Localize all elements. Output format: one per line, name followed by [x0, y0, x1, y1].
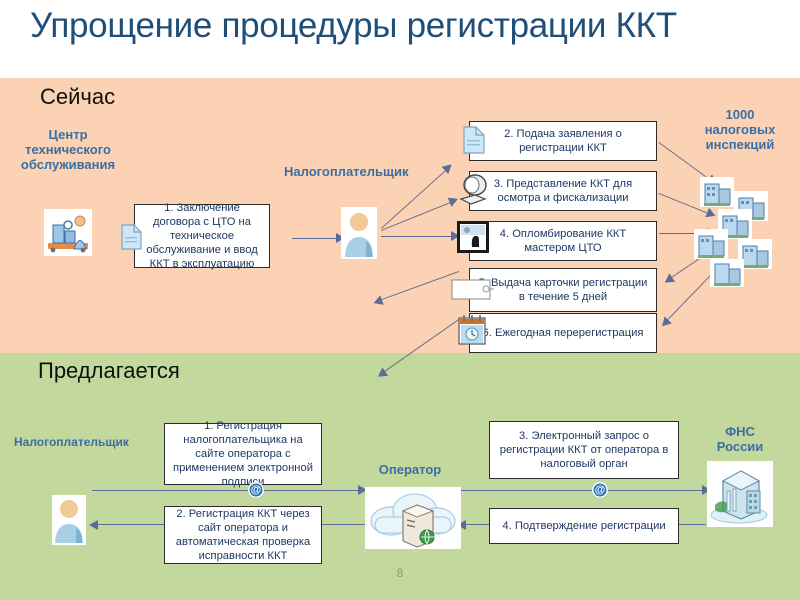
at-icon-operator-fns: @ [592, 482, 608, 498]
label-fns: ФНС России [700, 424, 780, 454]
government-building-icon [707, 461, 773, 527]
person-icon-proposed [52, 495, 86, 545]
section-caption-proposed: Предлагается [38, 358, 158, 384]
label-taxpayer-proposed: Налогоплательщик [14, 435, 120, 449]
buildings-cluster-icon [694, 177, 794, 287]
person-icon-current [341, 207, 377, 259]
monitor-icon-step3 [457, 172, 491, 208]
card-tag-icon-step5 [450, 277, 496, 303]
arrow-box1-to-taxpayer [292, 233, 346, 243]
step-box-3[interactable]: 3. Представление ККТ для осмотра и фиска… [469, 171, 657, 211]
step-box-2[interactable]: 2. Подача заявления о регистрации ККТ [469, 121, 657, 161]
stamp-icon-step4 [455, 219, 491, 255]
proposed-step-box-3[interactable]: 3. Электронный запрос о регистрации ККТ … [489, 421, 679, 479]
proposed-step-box-1[interactable]: 1. Регистрация налогоплательщика на сайт… [164, 423, 322, 485]
document-icon-step1 [118, 222, 145, 252]
page-title: Упрощение процедуры регистрации ККТ [30, 6, 770, 46]
slide-canvas: Упрощение процедуры регистрации ККТ Сейч… [0, 0, 800, 600]
page-number: 8 [0, 566, 800, 580]
proposed-step-box-4[interactable]: 4. Подтверждение регистрации [489, 508, 679, 544]
section-caption-current: Сейчас [40, 84, 200, 110]
calendar-icon-step6 [455, 312, 489, 348]
step-box-6[interactable]: 6. Ежегодная перерегистрация [469, 313, 657, 353]
service-center-icon [44, 209, 92, 256]
proposed-step-box-2[interactable]: 2. Регистрация ККТ через сайт оператора … [164, 506, 322, 564]
background-band-current [0, 78, 800, 353]
label-tax-inspections: 1000 налоговых инспекций [700, 107, 780, 152]
step-box-1[interactable]: 1. Заключение договора с ЦТО на техничес… [134, 204, 270, 268]
step-box-4[interactable]: 4. Опломбирование ККТ мастером ЦТО [469, 221, 657, 261]
label-service-center: Центр технического обслуживания [20, 127, 116, 172]
cloud-server-icon [365, 487, 461, 549]
label-operator: Оператор [365, 462, 455, 477]
at-icon-taxpayer-operator: @ [248, 482, 264, 498]
document-icon-step2 [460, 124, 488, 156]
step-box-5[interactable]: 5. Выдача карточки регистрации в течение… [469, 268, 657, 312]
label-taxpayer-current: Налогоплательщик [284, 164, 394, 179]
